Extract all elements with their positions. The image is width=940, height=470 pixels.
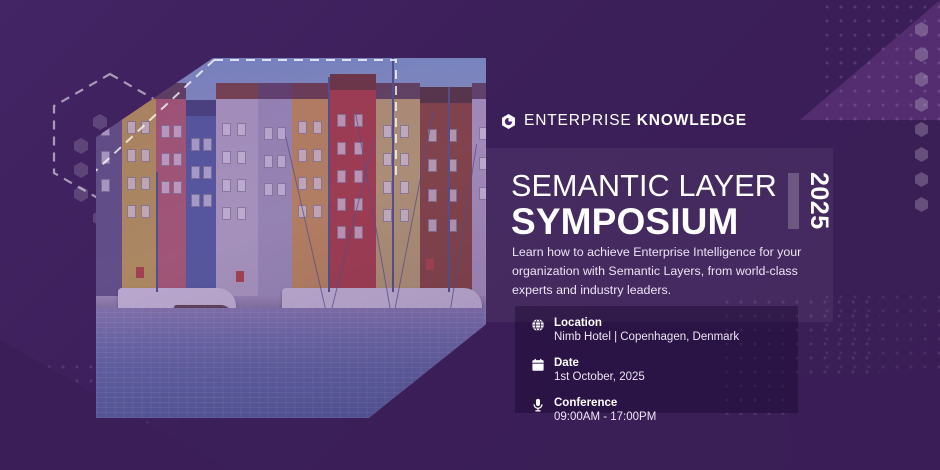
event-banner: ENTERPRISE KNOWLEDGE SEMANTIC LAYER SYMP…: [0, 0, 940, 470]
content-area: ENTERPRISE KNOWLEDGE SEMANTIC LAYER SYMP…: [0, 0, 940, 470]
event-title-line2: SYMPOSIUM: [511, 203, 777, 241]
detail-value-date: 1st October, 2025: [554, 370, 645, 386]
event-title: SEMANTIC LAYER SYMPOSIUM 2025: [511, 170, 831, 242]
brand-name-enterprise: ENTERPRISE: [524, 112, 632, 129]
detail-label-location: Location: [554, 316, 739, 330]
detail-value-location: Nimb Hotel | Copenhagen, Denmark: [554, 330, 739, 346]
hexagon-ring-icon: [500, 113, 517, 130]
calendar-icon: [531, 357, 545, 373]
detail-row-date: Date 1st October, 2025: [531, 356, 739, 386]
detail-label-date: Date: [554, 356, 645, 370]
event-description: Learn how to achieve Enterprise Intellig…: [512, 243, 802, 300]
detail-value-conference: 09:00AM - 17:00PM: [554, 410, 656, 426]
detail-label-conference: Conference: [554, 396, 656, 410]
year-divider-bar: [788, 173, 799, 229]
globe-icon: [531, 317, 545, 333]
detail-row-conference: Conference 09:00AM - 17:00PM: [531, 396, 739, 426]
brand-name: ENTERPRISE KNOWLEDGE: [524, 112, 747, 130]
microphone-icon: [531, 397, 545, 413]
brand-name-knowledge: KNOWLEDGE: [637, 112, 747, 129]
event-year: 2025: [806, 172, 831, 230]
detail-text-date: Date 1st October, 2025: [554, 356, 645, 386]
event-title-lines: SEMANTIC LAYER SYMPOSIUM: [511, 170, 777, 242]
event-title-line1: SEMANTIC LAYER: [511, 170, 777, 202]
detail-text-location: Location Nimb Hotel | Copenhagen, Denmar…: [554, 316, 739, 346]
detail-text-conference: Conference 09:00AM - 17:00PM: [554, 396, 656, 426]
event-details-list: Location Nimb Hotel | Copenhagen, Denmar…: [531, 316, 739, 426]
brand-logo[interactable]: ENTERPRISE KNOWLEDGE: [500, 112, 747, 130]
detail-row-location: Location Nimb Hotel | Copenhagen, Denmar…: [531, 316, 739, 346]
